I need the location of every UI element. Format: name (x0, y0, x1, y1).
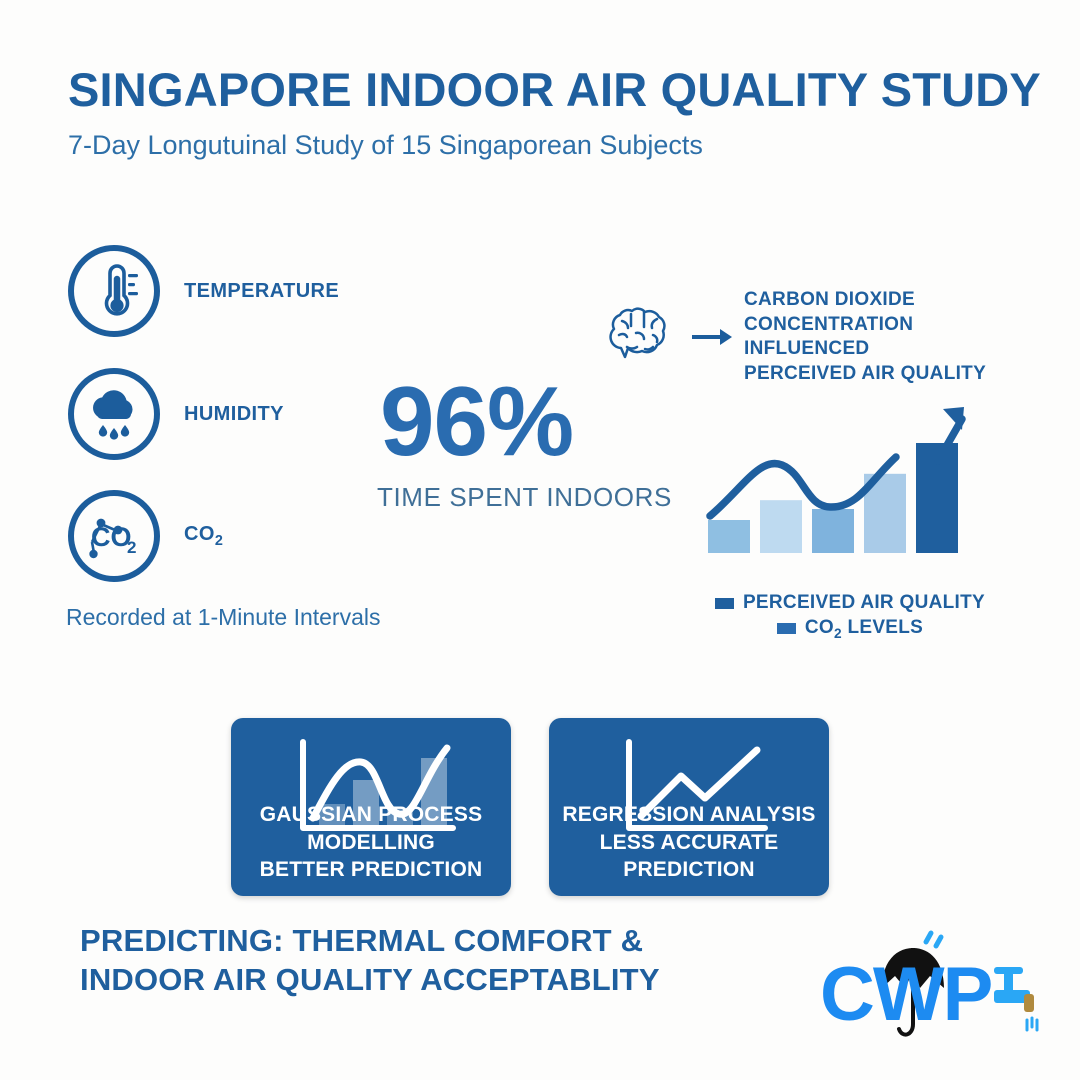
sensor-label-humidity: HUMIDITY (184, 403, 284, 426)
legend-item-perceived-air-quality: PERCEIVED AIR QUALITY (700, 592, 1000, 614)
insight-line-2: CONCENTRATION (744, 313, 986, 338)
chart-bar (812, 509, 854, 553)
page-subtitle: 7-Day Longutuinal Study of 15 Singaporea… (68, 130, 703, 161)
cwp-logo[interactable]: CWP (808, 928, 1058, 1048)
chart-bars (708, 443, 958, 553)
sensor-item-humidity: HUMIDITY (68, 368, 284, 460)
svg-text:2: 2 (127, 538, 136, 557)
method-card-regression-analysis[interactable]: REGRESSION ANALYSIS LESS ACCURATE PREDIC… (549, 718, 829, 896)
chart-bar (760, 500, 802, 553)
cwp-logo-text: CWP (820, 952, 992, 1037)
footer-statement-line2: INDOOR AIR QUALITY ACCEPTABLITY (80, 961, 660, 1000)
legend-label-co2-levels: CO2 LEVELS (805, 617, 923, 641)
rain-cloud-icon (68, 368, 160, 460)
stat-caption-time-indoors: TIME SPENT INDOORS (377, 482, 672, 513)
footer-statement-line1: PREDICTING: THERMAL COMFORT & (80, 922, 660, 961)
sensor-label-temperature: TEMPERATURE (184, 280, 339, 303)
brain-icon (598, 305, 684, 369)
thermometer-icon-glyph (88, 263, 140, 319)
sensor-item-temperature: TEMPERATURE (68, 245, 339, 337)
insight-line-4: PERCEIVED AIR QUALITY (744, 362, 986, 387)
legend-co2-sub: 2 (834, 626, 842, 641)
recording-interval-note: Recorded at 1-Minute Intervals (66, 604, 381, 631)
arrow-right-icon (690, 325, 734, 349)
stat-value-time-indoors: 96% (380, 372, 573, 470)
co2-molecule-icon-glyph: CO 2 (82, 508, 146, 564)
insight-line-3: INFLUENCED (744, 337, 986, 362)
svg-text:CO: CO (91, 522, 132, 552)
footer-statement: PREDICTING: THERMAL COMFORT & INDOOR AIR… (80, 922, 660, 1000)
insight-block: CARBON DIOXIDE CONCENTRATION INFLUENCED … (598, 288, 986, 387)
sensor-item-co2: CO 2 CO2 (68, 490, 223, 582)
method-card-line2-regression: LESS ACCURATE PREDICTION (549, 829, 829, 884)
thermometer-icon (68, 245, 160, 337)
legend-label-perceived-air-quality: PERCEIVED AIR QUALITY (743, 592, 985, 614)
insight-text: CARBON DIOXIDE CONCENTRATION INFLUENCED … (744, 288, 986, 387)
faucet-icon (994, 967, 1037, 1030)
co2-molecule-icon: CO 2 (68, 490, 160, 582)
page-title: SINGAPORE INDOOR AIR QUALITY STUDY (68, 62, 1041, 117)
infographic-canvas: SINGAPORE INDOOR AIR QUALITY STUDY 7-Day… (0, 0, 1080, 1080)
method-card-line2-gaussian: BETTER PREDICTION (231, 856, 511, 884)
legend-co2-main: CO (805, 617, 834, 638)
water-drop-icon (926, 933, 931, 942)
method-card-line1-regression: REGRESSION ANALYSIS (562, 803, 815, 826)
insight-line-1: CARBON DIOXIDE (744, 288, 986, 313)
method-card-text-gaussian: GAUSSIAN PROCESS MODELLING BETTER PREDIC… (231, 801, 511, 884)
sensor-label-co2: CO2 (184, 523, 223, 549)
co2-label-sub: 2 (215, 533, 223, 549)
legend-item-co2-levels: CO2 LEVELS (700, 617, 1000, 641)
chart-bar (708, 520, 750, 553)
legend-co2-tail: LEVELS (842, 617, 923, 638)
legend-swatch (777, 623, 796, 634)
method-card-line1-gaussian: GAUSSIAN PROCESS MODELLING (260, 803, 483, 854)
method-card-gaussian-process[interactable]: GAUSSIAN PROCESS MODELLING BETTER PREDIC… (231, 718, 511, 896)
legend-swatch (715, 598, 734, 609)
rain-cloud-icon-glyph (85, 387, 143, 441)
growth-bar-chart (700, 405, 1000, 585)
co2-label-main: CO (184, 523, 215, 545)
method-card-text-regression: REGRESSION ANALYSIS LESS ACCURATE PREDIC… (549, 801, 829, 884)
chart-legend: PERCEIVED AIR QUALITY CO2 LEVELS (700, 592, 1000, 644)
